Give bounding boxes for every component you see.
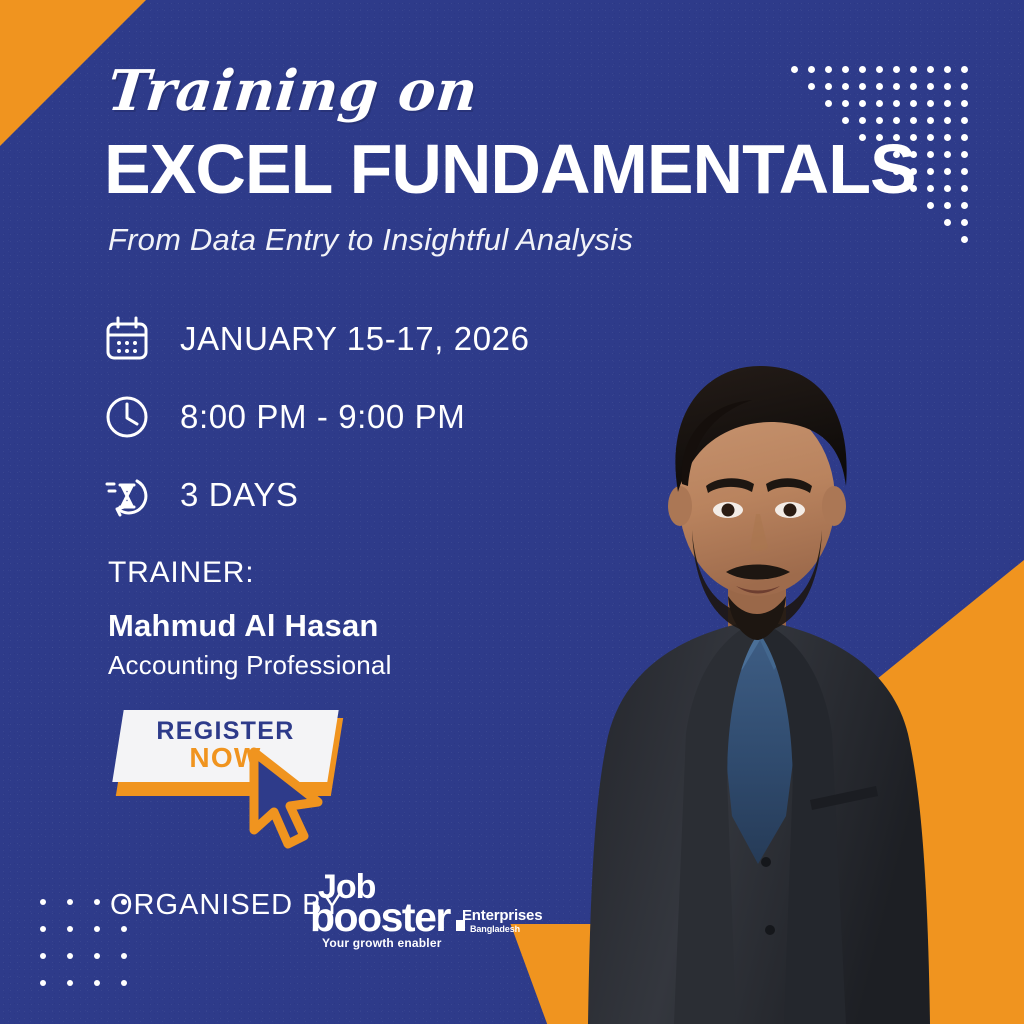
event-details-list: JANUARY 15-17, 2026 8:00 PM - 9:00 PM — [100, 312, 530, 522]
logo-enterprises: Enterprises — [462, 907, 542, 924]
organised-by-label: ORGANISED BY — [110, 889, 343, 922]
detail-row-date: JANUARY 15-17, 2026 — [100, 312, 530, 366]
logo-word-booster: booster — [310, 894, 450, 941]
clock-icon — [100, 390, 154, 444]
cursor-arrow-icon — [240, 744, 340, 854]
detail-text-date: JANUARY 15-17, 2026 — [180, 320, 530, 358]
detail-text-time: 8:00 PM - 9:00 PM — [180, 398, 465, 436]
calendar-icon — [100, 312, 154, 366]
subtitle: From Data Entry to Insightful Analysis — [108, 222, 633, 258]
trainer-name: Mahmud Al Hasan — [108, 608, 392, 644]
trainer-block: TRAINER: Mahmud Al Hasan Accounting Prof… — [108, 556, 392, 681]
duration-hourglass-icon — [100, 468, 154, 522]
detail-text-duration: 3 DAYS — [180, 476, 299, 514]
logo-country: Bangladesh — [470, 924, 520, 934]
jobbooster-logo: Job booster Your growth enabler Enterpri… — [310, 876, 535, 956]
trainer-label: TRAINER: — [108, 556, 392, 590]
logo-tagline: Your growth enabler — [322, 936, 442, 950]
register-now-button[interactable]: REGISTER NOW — [108, 706, 348, 836]
register-label-line1: REGISTER — [156, 719, 294, 745]
script-title: Training on — [105, 58, 482, 124]
trainer-role: Accounting Professional — [108, 650, 392, 681]
page-title: EXCEL FUNDAMENTALS — [104, 134, 916, 204]
poster-canvas: Training on EXCEL FUNDAMENTALS From Data… — [0, 0, 1024, 1024]
detail-row-duration: 3 DAYS — [100, 468, 530, 522]
detail-row-time: 8:00 PM - 9:00 PM — [100, 390, 530, 444]
